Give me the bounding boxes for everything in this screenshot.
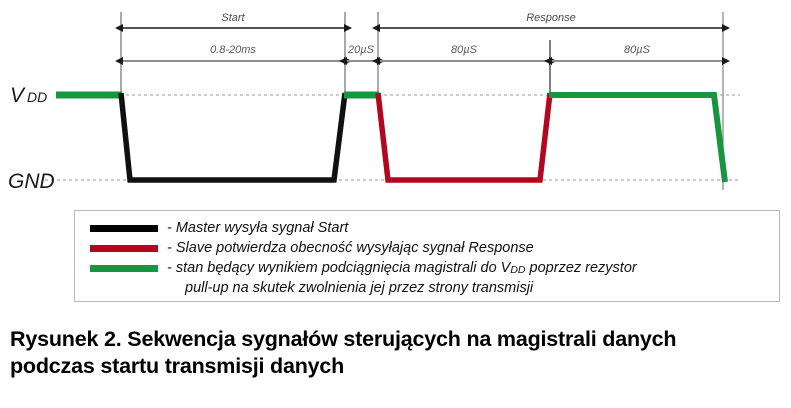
caption-line-1: Rysunek 2. Sekwencja sygnałów sterującyc… [10, 326, 785, 353]
legend-item-pullup: - stan będący wynikiem podciągnięcia mag… [90, 259, 773, 298]
trace-black-start [121, 93, 345, 180]
dim-label-t3: 80µS [451, 44, 478, 56]
legend-swatch-black [90, 225, 158, 232]
legend-label-pullup-block: - stan będący wynikiem podciągnięcia mag… [167, 259, 637, 298]
dim-label-t2: 20µS [347, 44, 375, 56]
dim-label-response: Response [526, 12, 576, 24]
legend-label-pullup-before: - stan będący wynikiem podciągnięcia mag… [167, 260, 510, 276]
trace-red-response [378, 93, 550, 180]
vdd-label: V [10, 84, 26, 107]
level-guides [45, 95, 740, 180]
legend-swatch-green [90, 265, 158, 272]
timing-diagram: Start Response 0.8-20ms 20µS 80µS 80µS [0, 0, 791, 205]
legend-swatch-red [90, 245, 158, 252]
legend-item-master: - Master wysyła sygnał Start [90, 219, 773, 238]
dim-label-t4: 80µS [624, 44, 651, 56]
gridlines [121, 12, 723, 190]
legend-label-pullup-line2: pull-up na skutek zwolnienia jej przez s… [167, 279, 637, 298]
legend-box: - Master wysyła sygnał Start - Slave pot… [74, 210, 780, 302]
dimension-row-durations: 0.8-20ms 20µS 80µS 80µS [123, 44, 722, 61]
waveform-traces [56, 93, 725, 182]
dimension-row-phases: Start Response [123, 12, 722, 28]
legend-rows: - Master wysyła sygnał Start - Slave pot… [90, 219, 773, 299]
axis-labels: V DD GND [8, 84, 55, 193]
vdd-label-subscript: DD [27, 89, 47, 105]
figure-root: Start Response 0.8-20ms 20µS 80µS 80µS [0, 0, 791, 408]
legend-label-master: - Master wysyła sygnał Start [167, 219, 348, 238]
dim-label-t1: 0.8-20ms [210, 44, 256, 56]
gnd-label: GND [8, 170, 55, 193]
dim-label-start: Start [221, 12, 245, 24]
caption-line-2: podczas startu transmisji danych [10, 353, 785, 380]
legend-item-slave: - Slave potwierdza obecność wysyłając sy… [90, 239, 773, 258]
legend-label-pullup-subscript: DD [510, 264, 525, 276]
legend-label-pullup-after: poprzez rezystor [526, 260, 637, 276]
trace-green-release-2 [549, 95, 725, 182]
legend-label-slave: - Slave potwierdza obecność wysyłając sy… [167, 239, 534, 258]
figure-caption: Rysunek 2. Sekwencja sygnałów sterującyc… [10, 326, 785, 380]
legend-label-pullup-line1: - stan będący wynikiem podciągnięcia mag… [167, 259, 637, 279]
